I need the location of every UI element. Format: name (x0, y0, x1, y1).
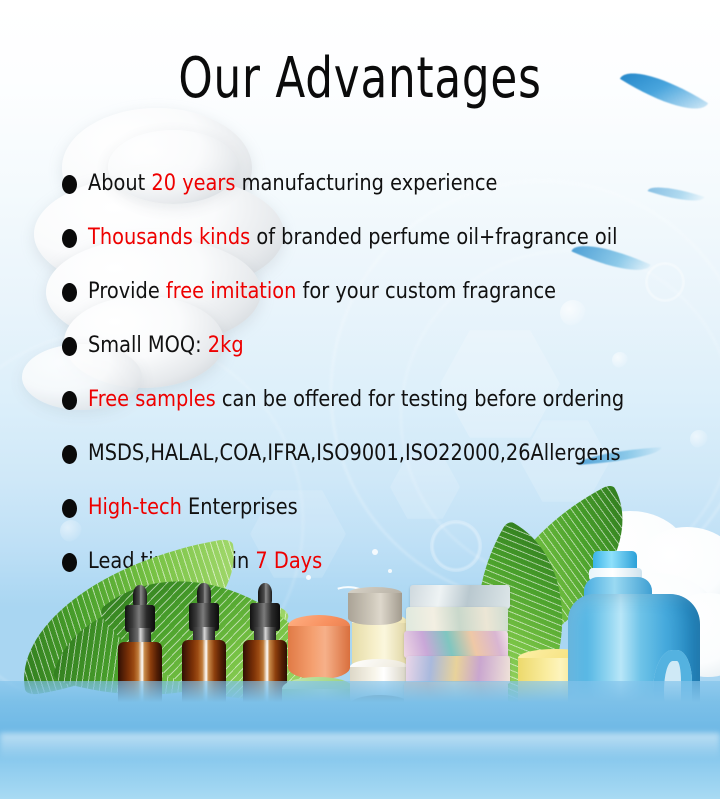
orange-round-soap (288, 615, 350, 679)
list-item-text: Small MOQ: 2kg (88, 333, 244, 359)
highlight-segment: free imitation (166, 279, 296, 304)
page-title: Our Advantages (79, 48, 641, 110)
list-item-text: About 20 years manufacturing experience (88, 171, 497, 197)
list-item-text: Provide free imitation for your custom f… (88, 279, 556, 305)
bullet-dot-icon (62, 337, 77, 356)
text-segment: of branded perfume oil+fragrance oil (250, 225, 617, 250)
water-droplet (372, 549, 378, 555)
bokeh-circle (690, 430, 708, 448)
highlight-segment: 2kg (208, 333, 244, 358)
text-segment: MSDS,HALAL,COA,IFRA,ISO9001,ISO22000,26A… (88, 441, 621, 466)
list-item-text: High-tech Enterprises (88, 495, 298, 521)
text-segment: can be offered for testing before orderi… (216, 387, 624, 412)
list-item: Free samples can be offered for testing … (62, 373, 682, 427)
bullet-dot-icon (62, 499, 77, 518)
text-segment: manufacturing experience (235, 171, 497, 196)
bullet-dot-icon (62, 445, 77, 464)
grey-round-soap (348, 587, 402, 625)
text-segment: About (88, 171, 151, 196)
highlight-segment: 20 years (151, 171, 235, 196)
highlight-segment: Free samples (88, 387, 216, 412)
product-scene (0, 529, 720, 799)
water-droplet (306, 575, 311, 580)
advantages-poster: Our Advantages About 20 years manufactur… (0, 0, 720, 799)
bullet-dot-icon (62, 175, 77, 194)
bullet-dot-icon (62, 283, 77, 302)
highlight-segment: High-tech (88, 495, 182, 520)
water-droplet (388, 569, 392, 573)
list-item-text: MSDS,HALAL,COA,IFRA,ISO9001,ISO22000,26A… (88, 441, 621, 467)
water-sheen (0, 733, 720, 759)
list-item: Small MOQ: 2kg (62, 319, 682, 373)
list-item: MSDS,HALAL,COA,IFRA,ISO9001,ISO22000,26A… (62, 427, 682, 481)
list-item: Thousands kinds of branded perfume oil+f… (62, 211, 682, 265)
list-item: Provide free imitation for your custom f… (62, 265, 682, 319)
text-segment: Small MOQ: (88, 333, 208, 358)
text-segment: for your custom fragrance (296, 279, 556, 304)
list-item-text: Thousands kinds of branded perfume oil+f… (88, 225, 618, 251)
text-segment: Provide (88, 279, 166, 304)
text-segment: Enterprises (182, 495, 298, 520)
bullet-dot-icon (62, 229, 77, 248)
highlight-segment: Thousands kinds (88, 225, 250, 250)
bullet-dot-icon (62, 391, 77, 410)
list-item: About 20 years manufacturing experience (62, 157, 682, 211)
list-item-text: Free samples can be offered for testing … (88, 387, 624, 413)
